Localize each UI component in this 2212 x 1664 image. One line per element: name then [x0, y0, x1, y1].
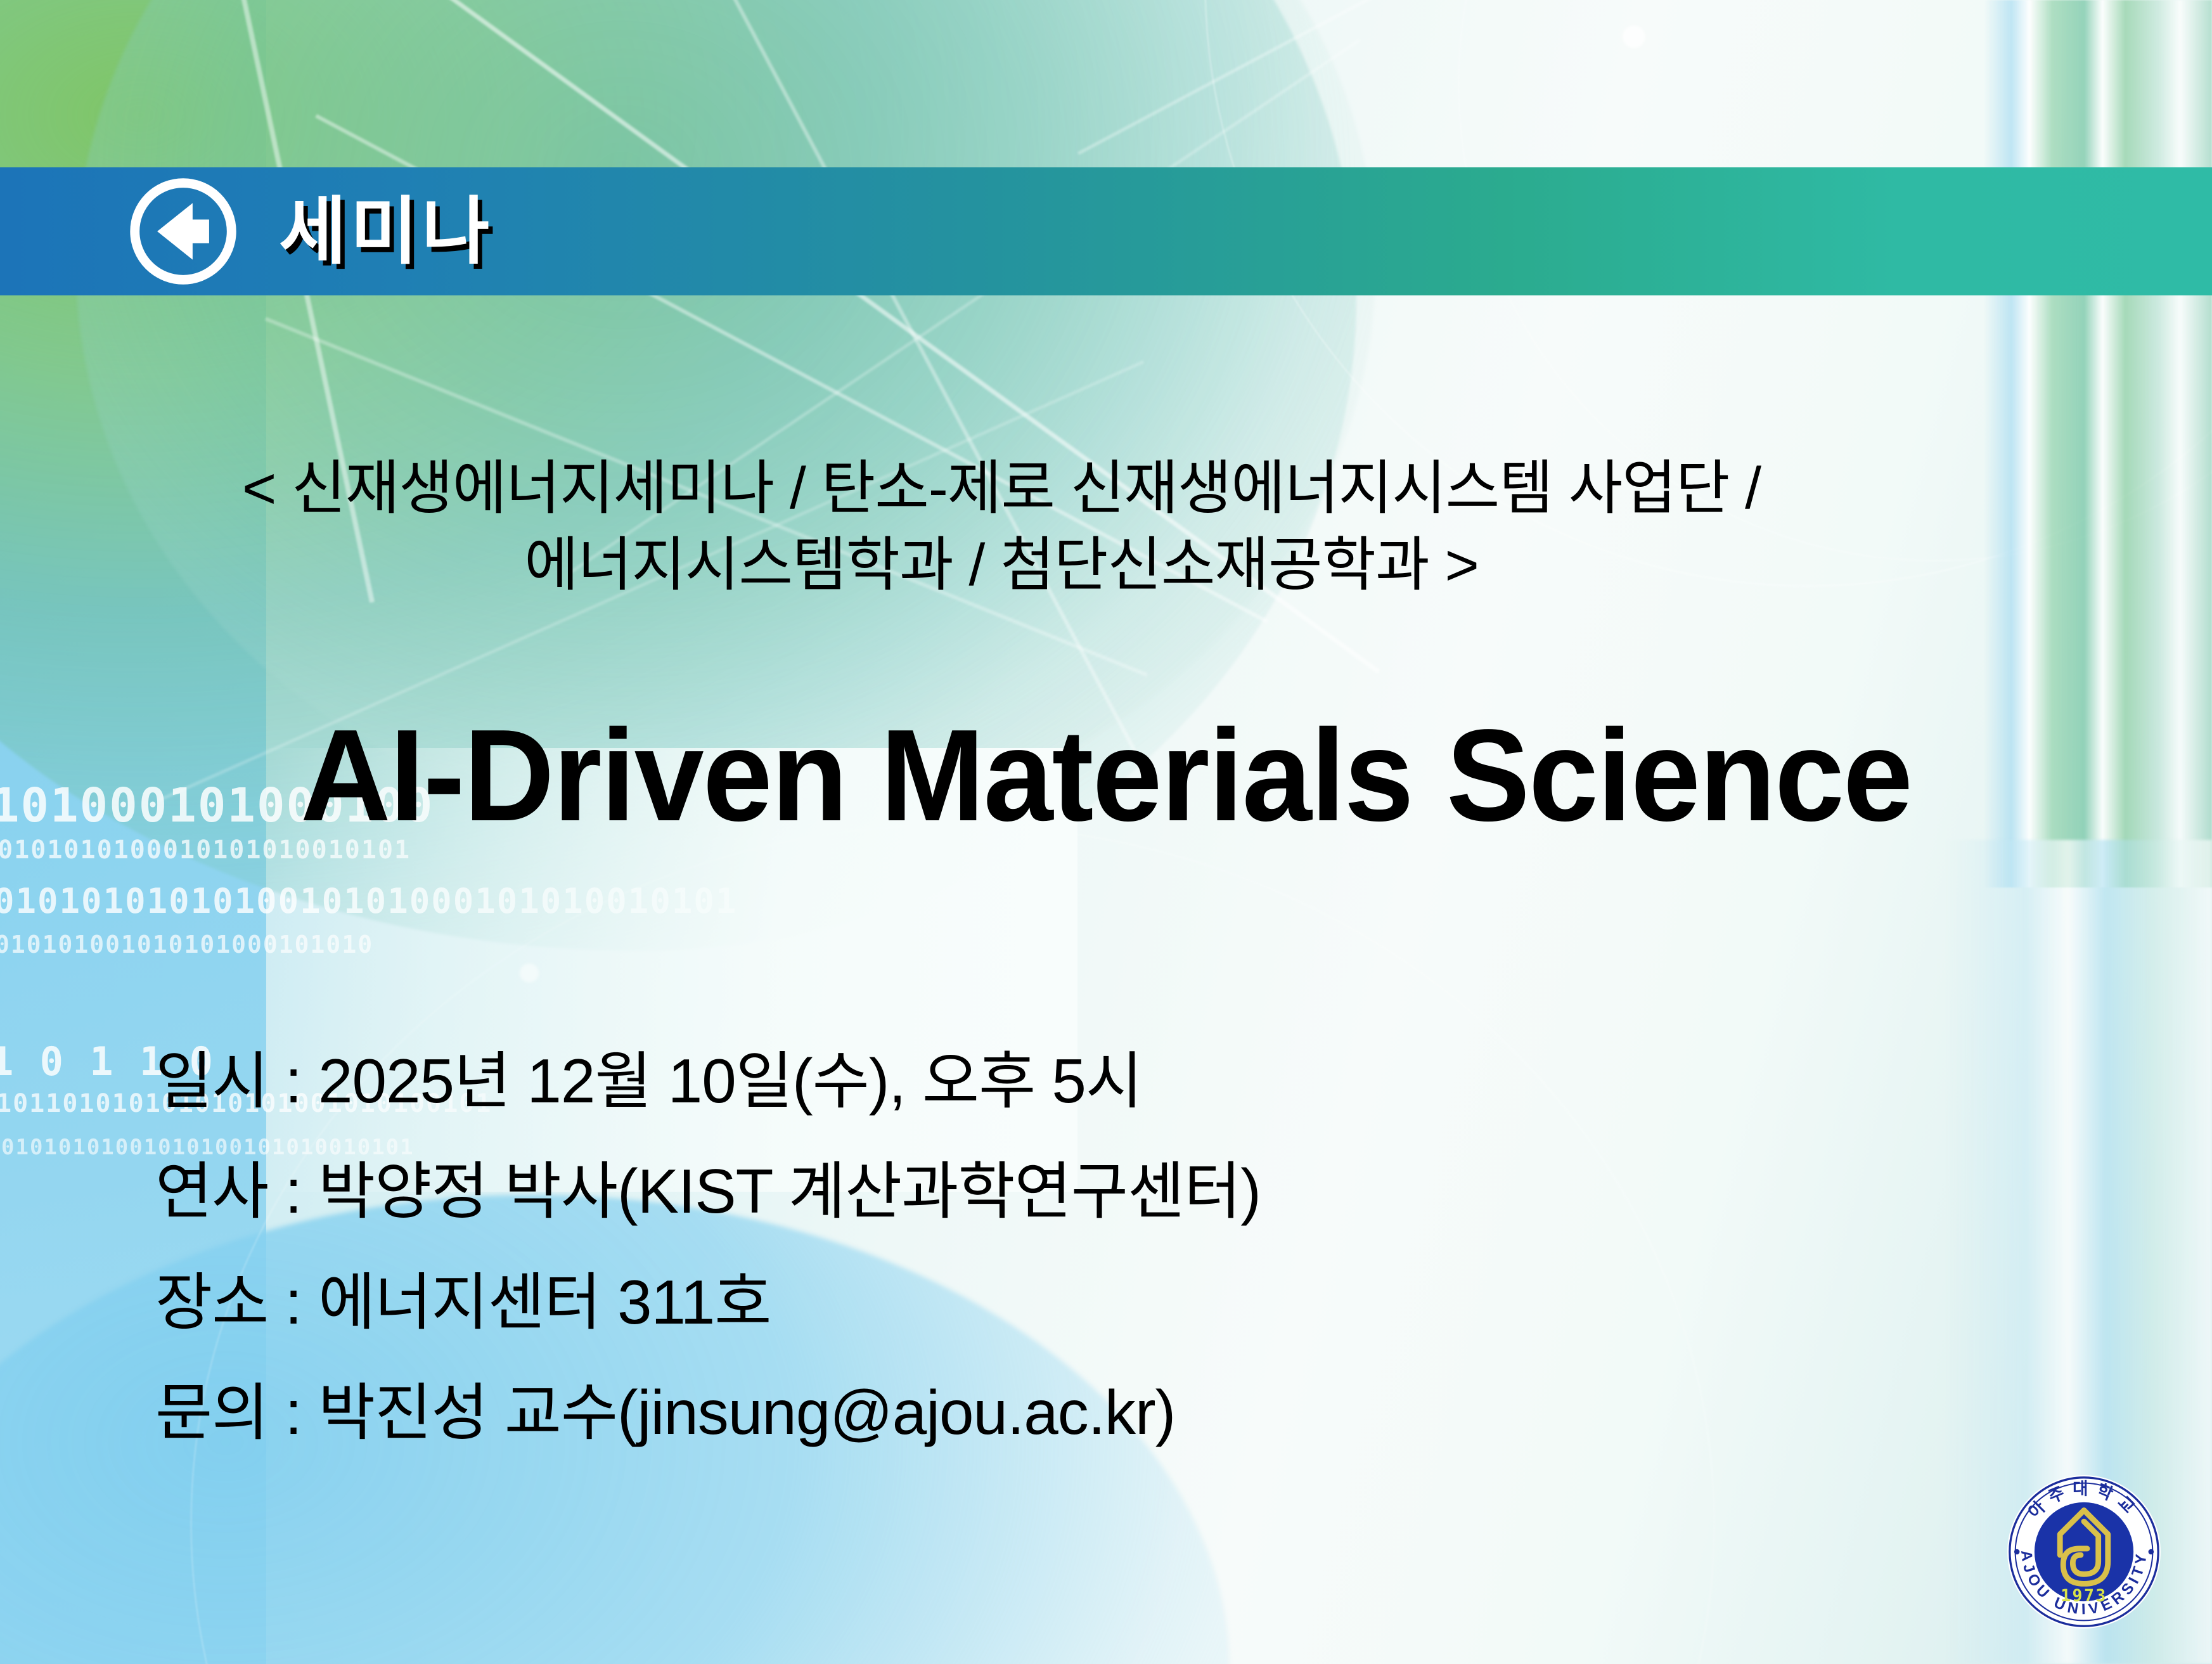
- detail-contact: 문의 : 박진성 교수(jinsung@ajou.ac.kr): [155, 1357, 1261, 1467]
- subtitle-line-2: 에너지시스템학과 / 첨단신소재공학과 >: [127, 527, 1876, 603]
- svg-text:1973: 1973: [2061, 1586, 2107, 1606]
- detail-location: 장소 : 에너지센터 311호: [155, 1247, 1261, 1357]
- background-node: [1623, 25, 1645, 48]
- detail-speaker: 연사 : 박양정 박사(KIST 계산과학연구센터): [155, 1136, 1261, 1246]
- seminar-subtitle: < 신재생에너지세미나 / 탄소-제로 신재생에너지시스템 사업단 / 에너지시…: [127, 450, 1876, 603]
- back-arrow-circle-icon[interactable]: [124, 172, 242, 290]
- ajou-university-logo: 아주대학교 AJOU UNIVERSITY 1973: [2004, 1472, 2164, 1632]
- header-title: 세미나: [279, 172, 493, 290]
- detail-datetime: 일시 : 2025년 12월 10일(수), 오후 5시: [155, 1026, 1261, 1136]
- page-title: AI-Driven Materials Science: [44, 710, 2168, 841]
- subtitle-line-1: < 신재생에너지세미나 / 탄소-제로 신재생에너지시스템 사업단 /: [127, 450, 1876, 527]
- seminar-poster-slide: 101000101000100 101010101000101010100101…: [0, 0, 2212, 1664]
- background-node: [520, 964, 539, 983]
- seminar-details: 일시 : 2025년 12월 10일(수), 오후 5시 연사 : 박양정 박사…: [155, 1026, 1261, 1468]
